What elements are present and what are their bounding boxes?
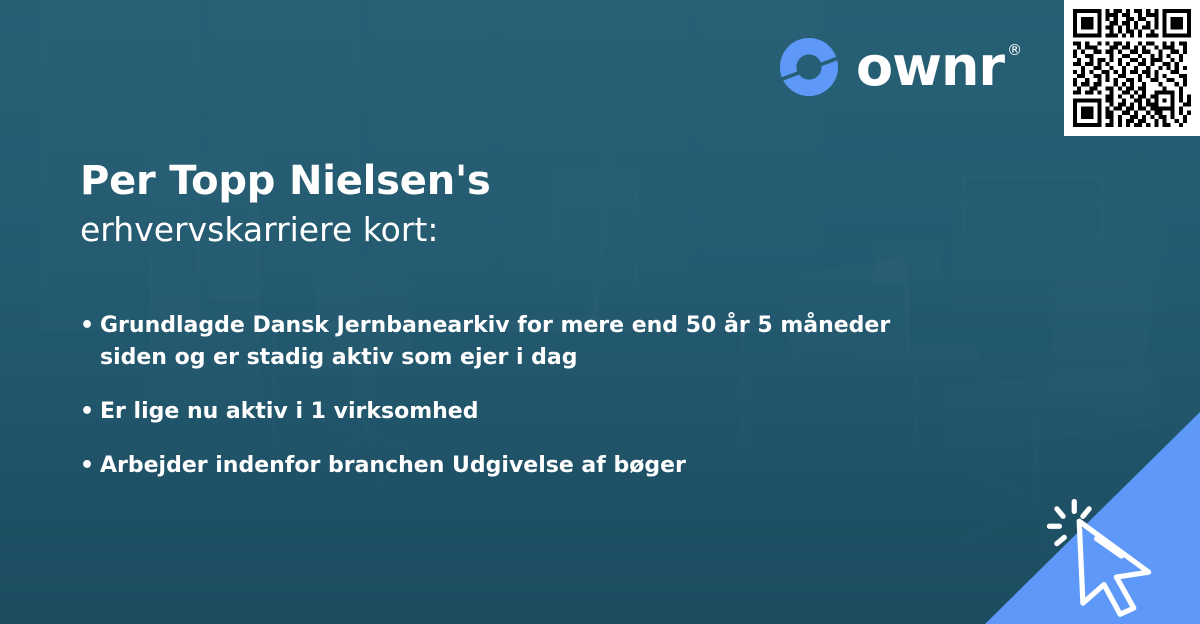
bullet-marker: • [80, 310, 100, 342]
list-item-text: Grundlagde Dansk Jernbanearkiv for mere … [100, 310, 950, 374]
page-title: Per Topp Nielsen's erhvervskarriere kort… [80, 158, 491, 252]
registered-mark: ® [1007, 43, 1021, 58]
ownr-logo[interactable]: ownr ® [778, 36, 1021, 98]
list-item-text: Arbejder indenfor branchen Udgivelse af … [100, 450, 950, 482]
qr-code-image [1073, 9, 1191, 127]
bullet-marker: • [80, 396, 100, 428]
bullet-marker: • [80, 450, 100, 482]
click-corner[interactable] [960, 396, 1200, 624]
list-item: • Arbejder indenfor branchen Udgivelse a… [80, 450, 950, 482]
career-card: ownr ® [0, 0, 1200, 624]
qr-code[interactable] [1064, 0, 1200, 136]
list-item: • Er lige nu aktiv i 1 virksomhed [80, 396, 950, 428]
click-cursor-icon [1042, 494, 1166, 618]
ownr-circle-logo-icon [778, 36, 840, 98]
list-item-text: Er lige nu aktiv i 1 virksomhed [100, 396, 950, 428]
title-name: Per Topp Nielsen's [80, 158, 491, 205]
career-facts-list: • Grundlagde Dansk Jernbanearkiv for mer… [80, 310, 950, 504]
wordmark-text: ownr [856, 40, 1004, 94]
ownr-wordmark: ownr ® [856, 40, 1021, 94]
title-subtitle: erhvervskarriere kort: [80, 209, 491, 252]
list-item: • Grundlagde Dansk Jernbanearkiv for mer… [80, 310, 950, 374]
